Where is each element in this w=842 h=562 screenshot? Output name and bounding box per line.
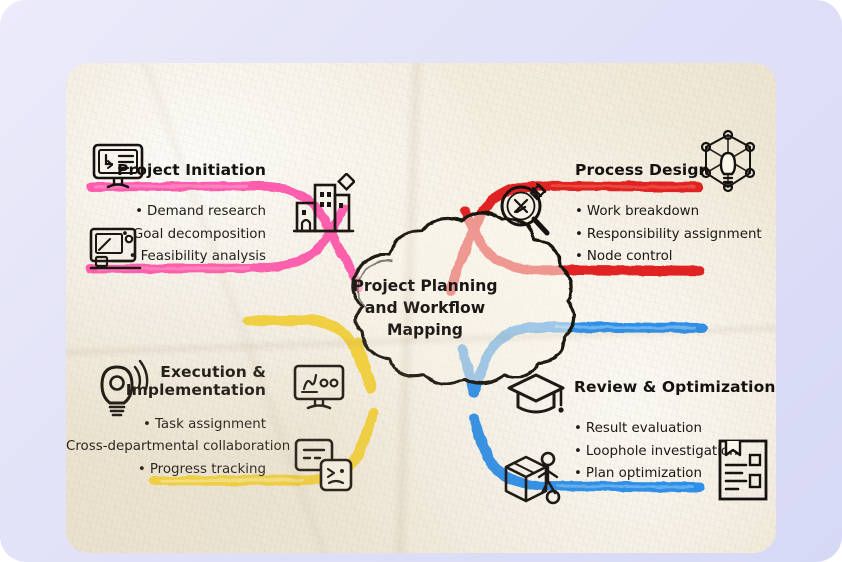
branch-items-process-design: •Work breakdown •Responsibility assignme… [570,201,776,269]
list-item[interactable]: •Work breakdown [575,201,776,224]
central-topic: Project Planning and Workflow Mapping [334,275,516,341]
bulb-network-icon [692,125,766,201]
mindmap-canvas: Project Planning and Workflow Mapping Pr… [0,0,842,562]
central-topic-line-3: Mapping [334,319,516,341]
item-label: Cross-departmental collaboration [66,439,290,454]
bullet-dot: • [575,249,583,264]
list-item[interactable]: Cross-departmental collaboration [66,436,266,459]
bullet-dot: • [575,204,583,219]
monitor-analytics-icon [291,363,347,415]
desktop-chart-icon [88,226,146,276]
central-topic-line-1: Project Planning [334,275,516,297]
list-item[interactable]: •Demand research [66,201,266,224]
bullet-dot: • [574,444,582,459]
item-label: Work breakdown [587,204,699,219]
branch-items-execution-implementation: •Task assignment Cross-departmental coll… [66,414,274,482]
monitor-checklist-icon [90,142,146,194]
chat-feedback-icon [293,437,355,495]
delivery-box-icon [498,445,568,511]
bullet-dot: • [575,227,583,242]
list-item[interactable]: •Progress tracking [66,459,266,482]
item-label: Demand research [147,204,266,219]
bullet-dot: • [138,462,146,477]
item-label: Node control [587,249,673,264]
graduation-cap-icon [503,369,569,427]
magnifier-icon [495,179,555,241]
list-item[interactable]: •Node control [575,246,776,269]
item-label: Feasibility analysis [141,249,266,264]
item-label: Task assignment [155,417,266,432]
bullet-dot: • [135,204,143,219]
paper-panel: Project Planning and Workflow Mapping Pr… [66,63,776,553]
item-label: Result evaluation [586,421,702,436]
list-item[interactable]: •Responsibility assignment [575,224,776,247]
bullet-dot: • [574,466,582,481]
buildings-icon [293,173,355,237]
branch-title-review-optimization: Review & Optimization [569,378,776,396]
central-topic-line-2: and Workflow [334,297,516,319]
report-document-icon [714,435,776,505]
item-label: Progress tracking [150,462,266,477]
item-label: Plan optimization [586,466,702,481]
item-label: Responsibility assignment [587,227,762,242]
bullet-dot: • [574,421,582,436]
lightbulb-signal-icon [90,359,152,421]
item-label: Goal decomposition [133,227,266,242]
